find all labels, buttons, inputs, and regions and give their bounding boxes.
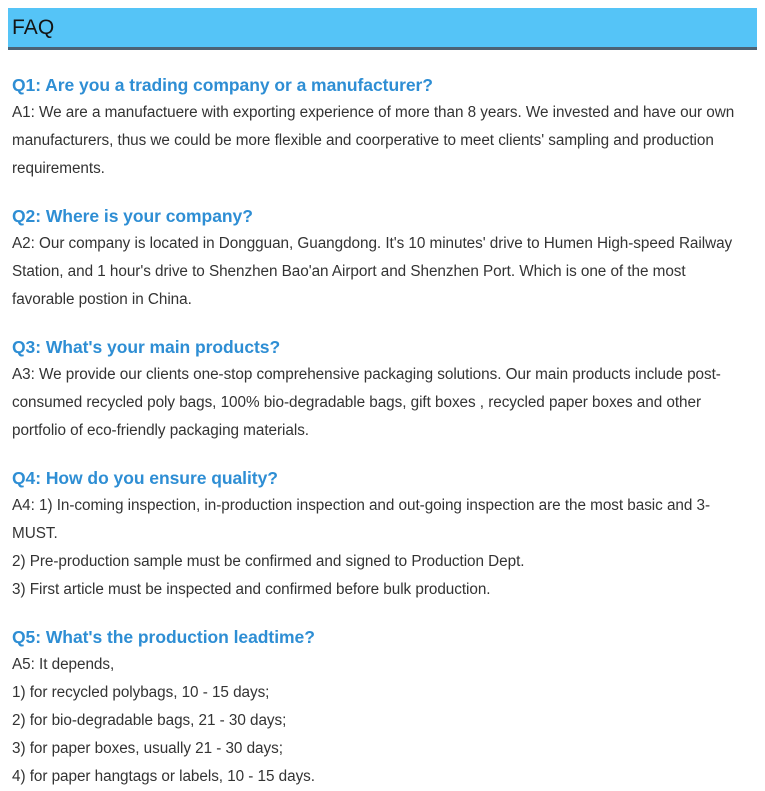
- faq-answer: A3: We provide our clients one-stop comp…: [12, 361, 752, 445]
- faq-answer-line: 2) for bio-degradable bags, 21 - 30 days…: [12, 707, 752, 735]
- faq-question: Q4: How do you ensure quality?: [12, 467, 753, 489]
- faq-answer: A2: Our company is located in Dongguan, …: [12, 230, 752, 314]
- faq-answer-line: A4: 1) In-coming inspection, in-producti…: [12, 492, 752, 548]
- faq-question: Q5: What's the production leadtime?: [12, 626, 753, 648]
- faq-question: Q2: Where is your company?: [12, 205, 753, 227]
- faq-answer-line: 3) for paper boxes, usually 21 - 30 days…: [12, 735, 752, 763]
- faq-answer-line: 1) for recycled polybags, 10 - 15 days;: [12, 679, 752, 707]
- faq-answer-line: 3) First article must be inspected and c…: [12, 576, 752, 604]
- faq-item: Q3: What's your main products? A3: We pr…: [12, 336, 753, 445]
- faq-answer-line: 2) Pre-production sample must be confirm…: [12, 548, 752, 576]
- faq-answer-line: 4) for paper hangtags or labels, 10 - 15…: [12, 763, 752, 791]
- faq-answer: A5: It depends, 1) for recycled polybags…: [12, 651, 752, 791]
- faq-item: Q5: What's the production leadtime? A5: …: [12, 626, 753, 791]
- faq-question: Q3: What's your main products?: [12, 336, 753, 358]
- faq-question: Q1: Are you a trading company or a manuf…: [12, 74, 753, 96]
- faq-answer: A4: 1) In-coming inspection, in-producti…: [12, 492, 752, 604]
- page-title: FAQ: [8, 17, 54, 38]
- faq-answer-line: A5: It depends,: [12, 651, 752, 679]
- faq-page: FAQ Q1: Are you a trading company or a m…: [0, 8, 765, 756]
- faq-item: Q2: Where is your company? A2: Our compa…: [12, 205, 753, 314]
- faq-answer: A1: We are a manufactuere with exporting…: [12, 99, 752, 183]
- faq-header-bar: FAQ: [8, 8, 757, 50]
- faq-item: Q1: Are you a trading company or a manuf…: [12, 74, 753, 183]
- faq-item: Q4: How do you ensure quality? A4: 1) In…: [12, 467, 753, 604]
- faq-list: Q1: Are you a trading company or a manuf…: [0, 74, 765, 791]
- faq-answer-line: A1: We are a manufactuere with exporting…: [12, 99, 752, 183]
- faq-answer-line: A2: Our company is located in Dongguan, …: [12, 230, 752, 314]
- faq-answer-line: A3: We provide our clients one-stop comp…: [12, 361, 752, 445]
